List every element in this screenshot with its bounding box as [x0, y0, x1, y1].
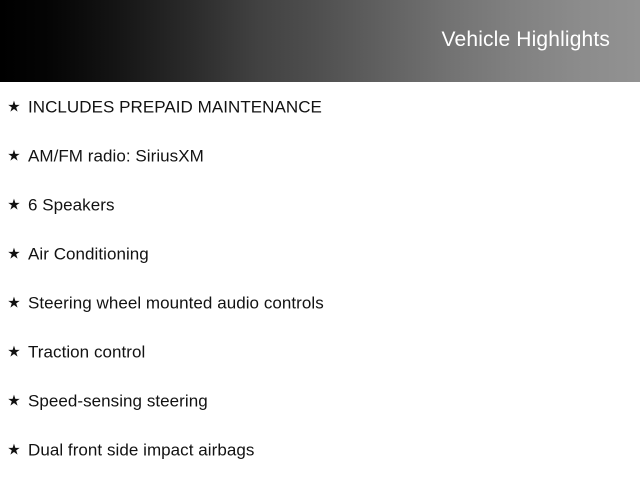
star-bullet-icon: ★	[7, 344, 21, 359]
list-item: ★ 6 Speakers	[0, 180, 640, 229]
vehicle-highlights-list: ★ INCLUDES PREPAID MAINTENANCE ★ AM/FM r…	[0, 82, 640, 474]
list-item-label: Traction control	[28, 341, 145, 362]
star-bullet-icon: ★	[7, 99, 21, 114]
vehicle-highlights-slide: Vehicle Highlights ★ INCLUDES PREPAID MA…	[0, 0, 640, 480]
list-item: ★ AM/FM radio: SiriusXM	[0, 131, 640, 180]
header-banner: Vehicle Highlights	[0, 0, 640, 82]
star-bullet-icon: ★	[7, 246, 21, 261]
list-item-label: Speed-sensing steering	[28, 390, 208, 411]
list-item: ★ Traction control	[0, 327, 640, 376]
page-title: Vehicle Highlights	[442, 28, 610, 52]
star-bullet-icon: ★	[7, 197, 21, 212]
star-bullet-icon: ★	[7, 442, 21, 457]
star-bullet-icon: ★	[7, 393, 21, 408]
list-item-label: Air Conditioning	[28, 243, 149, 264]
list-item-label: Steering wheel mounted audio controls	[28, 292, 324, 313]
list-item: ★ Dual front side impact airbags	[0, 425, 640, 474]
star-bullet-icon: ★	[7, 295, 21, 310]
list-item-label: INCLUDES PREPAID MAINTENANCE	[28, 96, 322, 117]
list-item-label: Dual front side impact airbags	[28, 439, 254, 460]
list-item: ★ INCLUDES PREPAID MAINTENANCE	[0, 82, 640, 131]
list-item-label: AM/FM radio: SiriusXM	[28, 145, 204, 166]
list-item: ★ Air Conditioning	[0, 229, 640, 278]
star-bullet-icon: ★	[7, 148, 21, 163]
list-item: ★ Speed-sensing steering	[0, 376, 640, 425]
list-item-label: 6 Speakers	[28, 194, 115, 215]
list-item: ★ Steering wheel mounted audio controls	[0, 278, 640, 327]
